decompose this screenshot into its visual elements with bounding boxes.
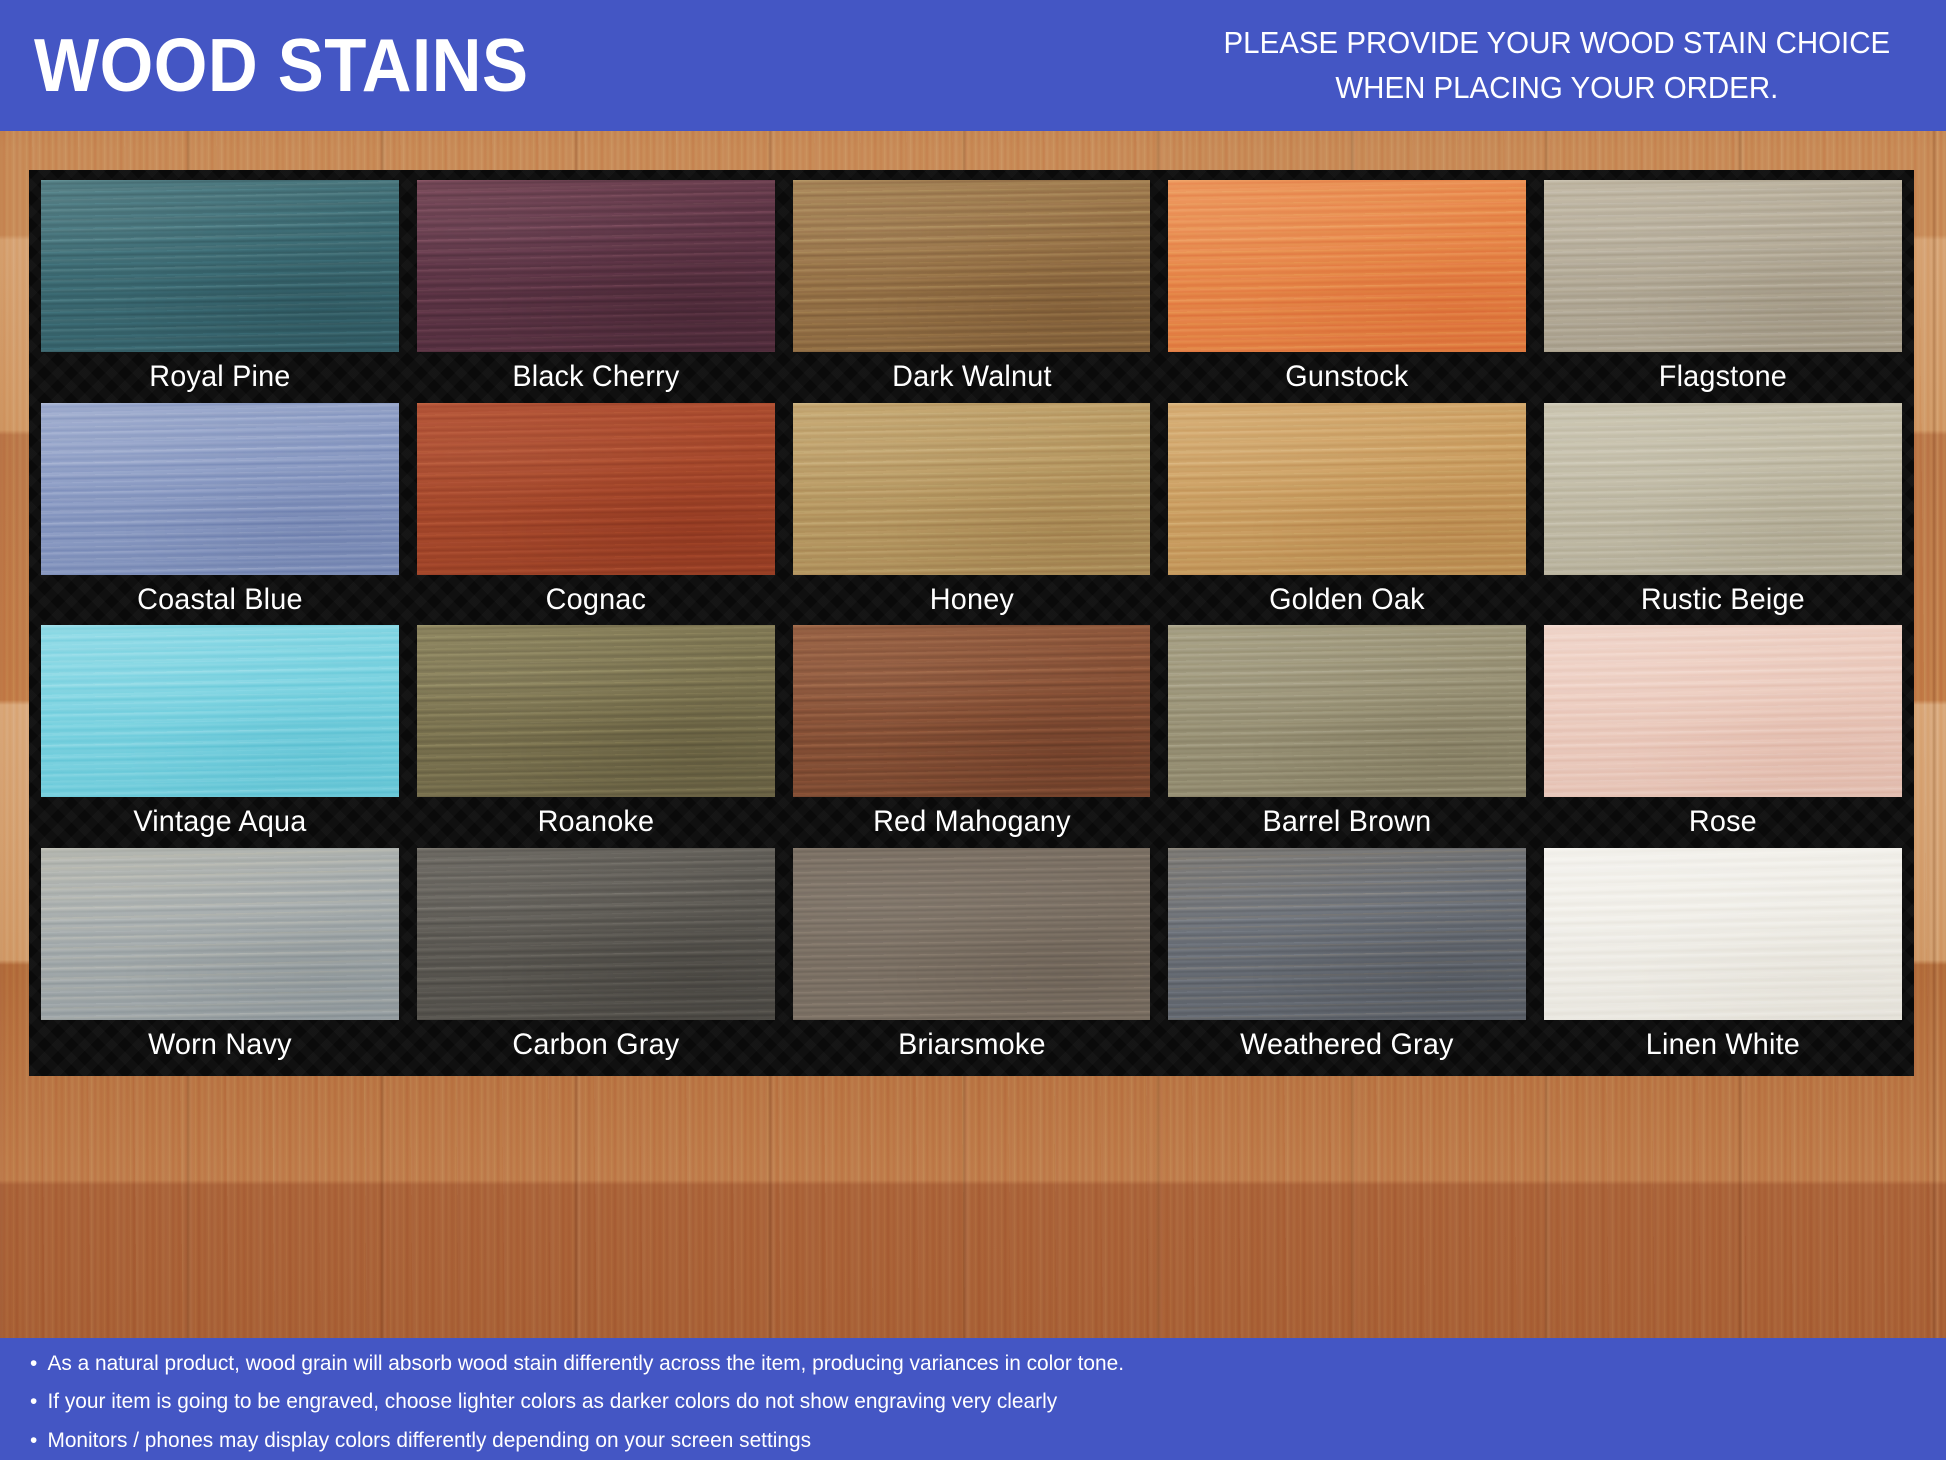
stain-swatch-cell[interactable]: Briarsmoke [789, 848, 1155, 1071]
stain-swatch-color[interactable] [41, 403, 399, 575]
stain-swatch-label: Rustic Beige [1548, 575, 1899, 626]
stain-swatch-label: Black Cherry [420, 352, 771, 403]
stain-swatch-color[interactable] [1544, 848, 1902, 1020]
bullet-icon: • [30, 1344, 47, 1382]
stain-swatch-grid: Royal PineBlack CherryDark WalnutGunstoc… [37, 180, 1906, 1070]
footer-notes-list: •As a natural product, wood grain will a… [0, 1344, 1946, 1459]
page-title: WOOD STAINS [34, 28, 528, 103]
stain-swatch-color[interactable] [417, 403, 775, 575]
header-instruction-line1: PLEASE PROVIDE YOUR WOOD STAIN CHOICE [1224, 21, 1891, 65]
stain-swatch-color[interactable] [1544, 180, 1902, 352]
stain-swatch-cell[interactable]: Barrel Brown [1164, 625, 1530, 848]
bullet-icon: • [30, 1421, 47, 1459]
stain-swatch-label: Linen White [1548, 1020, 1899, 1071]
stain-swatch-label: Royal Pine [44, 352, 395, 403]
stain-swatch-label: Rose [1548, 797, 1899, 848]
stain-swatch-color[interactable] [793, 625, 1151, 797]
stain-swatch-label: Carbon Gray [420, 1020, 771, 1071]
stain-swatch-cell[interactable]: Weathered Gray [1164, 848, 1530, 1071]
stain-swatch-label: Weathered Gray [1172, 1020, 1523, 1071]
stain-swatch-color[interactable] [1544, 625, 1902, 797]
stain-chart-panel: Royal PineBlack CherryDark WalnutGunstoc… [29, 170, 1914, 1076]
stain-swatch-cell[interactable]: Coastal Blue [37, 403, 403, 626]
stain-swatch-cell[interactable]: Rose [1540, 625, 1906, 848]
stain-swatch-cell[interactable]: Royal Pine [37, 180, 403, 403]
stain-swatch-label: Briarsmoke [796, 1020, 1147, 1071]
stain-swatch-color[interactable] [417, 180, 775, 352]
footer-band: •As a natural product, wood grain will a… [0, 1338, 1946, 1460]
stain-swatch-color[interactable] [793, 180, 1151, 352]
stain-swatch-label: Golden Oak [1172, 575, 1523, 626]
stain-swatch-label: Barrel Brown [1172, 797, 1523, 848]
stain-swatch-cell[interactable]: Red Mahogany [789, 625, 1155, 848]
stain-swatch-color[interactable] [793, 403, 1151, 575]
stain-swatch-cell[interactable]: Black Cherry [413, 180, 779, 403]
stain-swatch-cell[interactable]: Cognac [413, 403, 779, 626]
stain-swatch-label: Coastal Blue [44, 575, 395, 626]
footer-note: •Monitors / phones may display colors di… [30, 1421, 1889, 1459]
stain-swatch-cell[interactable]: Linen White [1540, 848, 1906, 1071]
stain-swatch-color[interactable] [417, 625, 775, 797]
bullet-icon: • [30, 1382, 47, 1420]
footer-note-text: Monitors / phones may display colors dif… [47, 1428, 811, 1452]
stain-swatch-cell[interactable]: Worn Navy [37, 848, 403, 1071]
footer-note: •If your item is going to be engraved, c… [30, 1382, 1889, 1420]
stain-swatch-label: Vintage Aqua [44, 797, 395, 848]
stain-swatch-label: Red Mahogany [796, 797, 1147, 848]
stain-swatch-label: Flagstone [1548, 352, 1899, 403]
stain-swatch-label: Honey [796, 575, 1147, 626]
stain-swatch-color[interactable] [1168, 403, 1526, 575]
stain-swatch-cell[interactable]: Carbon Gray [413, 848, 779, 1071]
stain-swatch-color[interactable] [1168, 848, 1526, 1020]
stain-swatch-cell[interactable]: Golden Oak [1164, 403, 1530, 626]
stain-swatch-color[interactable] [417, 848, 775, 1020]
stain-swatch-cell[interactable]: Honey [789, 403, 1155, 626]
stain-swatch-color[interactable] [1544, 403, 1902, 575]
footer-note: •As a natural product, wood grain will a… [30, 1344, 1889, 1382]
stain-swatch-cell[interactable]: Roanoke [413, 625, 779, 848]
stain-swatch-label: Gunstock [1172, 352, 1523, 403]
stain-swatch-color[interactable] [41, 848, 399, 1020]
stain-swatch-cell[interactable]: Gunstock [1164, 180, 1530, 403]
stain-swatch-color[interactable] [1168, 625, 1526, 797]
stain-swatch-color[interactable] [41, 180, 399, 352]
stain-swatch-cell[interactable]: Dark Walnut [789, 180, 1155, 403]
header-band: WOOD STAINS PLEASE PROVIDE YOUR WOOD STA… [0, 0, 1946, 131]
stain-swatch-cell[interactable]: Rustic Beige [1540, 403, 1906, 626]
stain-swatch-color[interactable] [1168, 180, 1526, 352]
stain-swatch-cell[interactable]: Flagstone [1540, 180, 1906, 403]
stain-swatch-color[interactable] [793, 848, 1151, 1020]
stain-swatch-cell[interactable]: Vintage Aqua [37, 625, 403, 848]
stain-swatch-color[interactable] [41, 625, 399, 797]
stain-swatch-label: Roanoke [420, 797, 771, 848]
stain-swatch-label: Worn Navy [44, 1020, 395, 1071]
footer-note-text: If your item is going to be engraved, ch… [47, 1389, 1057, 1413]
footer-note-text: As a natural product, wood grain will ab… [47, 1351, 1124, 1375]
header-instruction-line2: WHEN PLACING YOUR ORDER. [1224, 66, 1891, 110]
stain-swatch-label: Cognac [420, 575, 771, 626]
header-instruction: PLEASE PROVIDE YOUR WOOD STAIN CHOICE WH… [1224, 21, 1891, 109]
stain-swatch-label: Dark Walnut [796, 352, 1147, 403]
